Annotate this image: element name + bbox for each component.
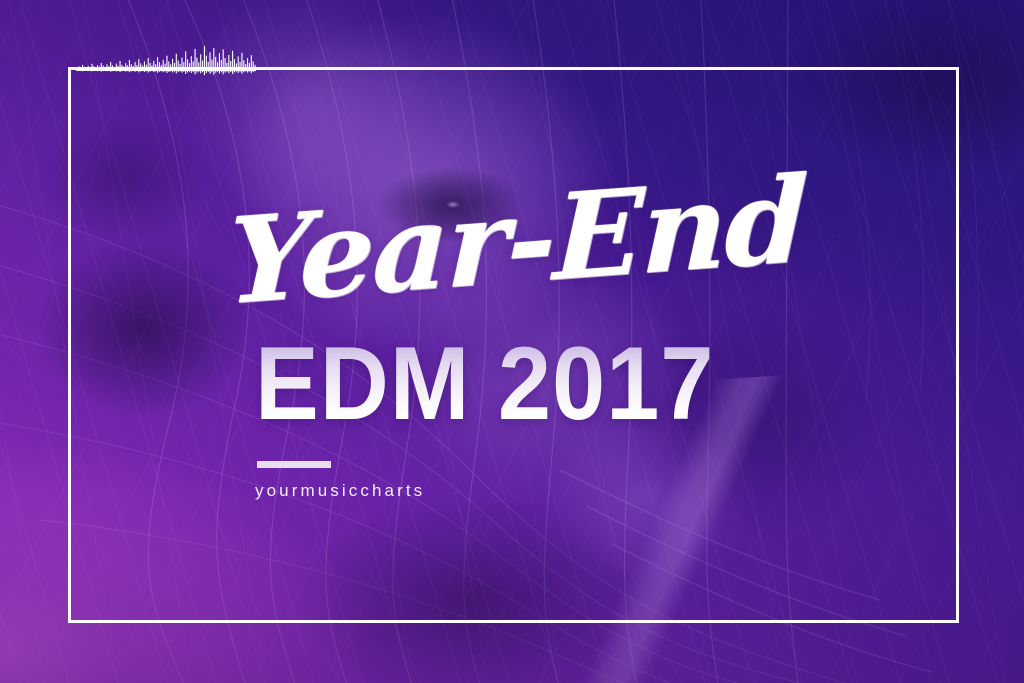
audio-waveform-icon: [76, 45, 256, 79]
poster: Year-End EDM 2017 yourmusiccharts: [0, 0, 1024, 683]
photo-vignette: [0, 0, 1024, 683]
background-photo: [0, 0, 1024, 683]
